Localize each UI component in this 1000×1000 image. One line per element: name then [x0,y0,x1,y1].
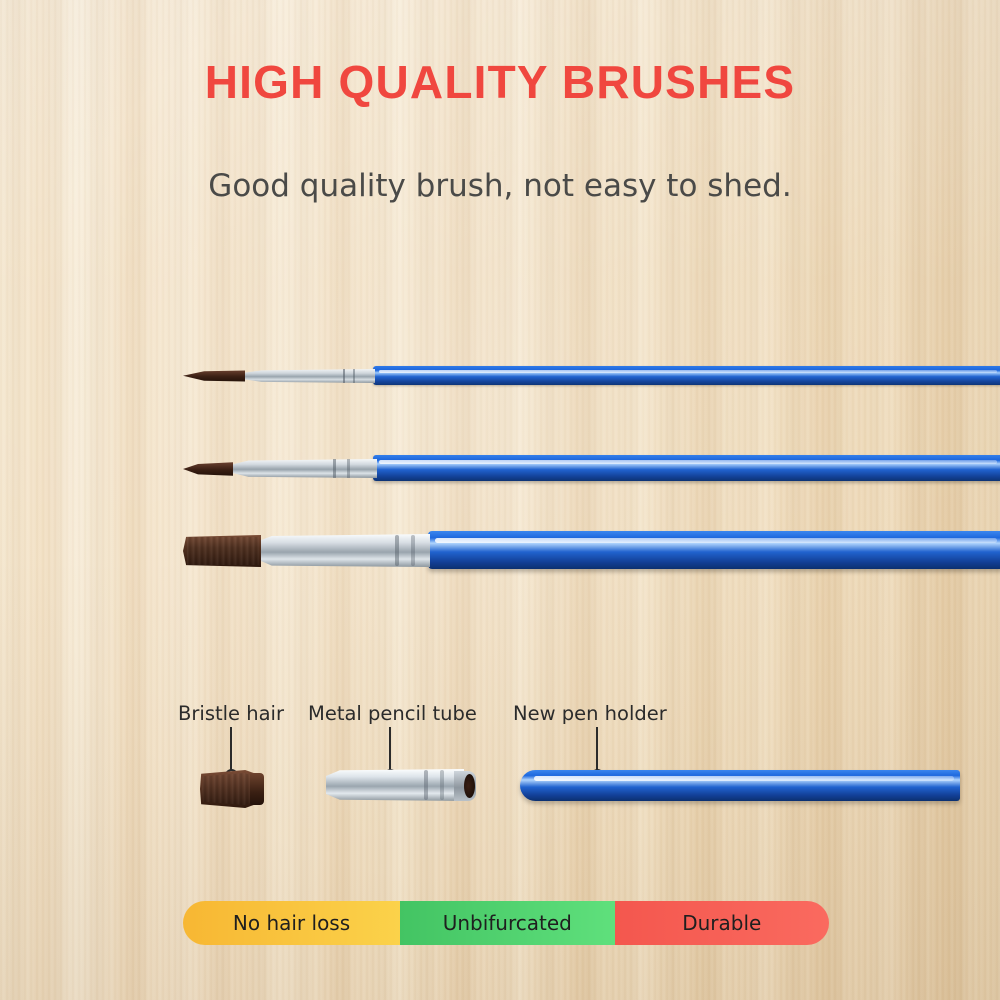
ferrule-crimp-line-2 [411,535,415,566]
ferrule-crimp-line-2 [353,369,355,383]
callout-label-bristle-hair: Bristle hair [178,702,284,725]
bristle-strand-shading [187,537,259,565]
callout-label-metal-pencil-tube: Metal pencil tube [308,702,477,725]
bristle-hair-sample [200,767,270,811]
round-detail-brush [183,450,1000,496]
brush-handle [428,531,1000,569]
feature-label: No hair loss [233,911,350,935]
feature-bar: No hair loss Unbifurcated Durable [183,901,829,945]
feature-no-hair-loss: No hair loss [183,901,400,945]
brush-ferrule [258,534,430,567]
brush-handle [373,455,1000,481]
ferrule-crimp-line [343,369,345,383]
brush-handle [373,366,1000,385]
pen-holder-body [520,770,960,801]
page-title: HIGH QUALITY BRUSHES [0,55,1000,109]
feature-label: Unbifurcated [443,911,572,935]
brush-handle-highlight [435,538,997,543]
ferrule-bore-hole [464,774,475,798]
brush-ferrule [243,369,375,383]
ferrule-crimp-line-2 [347,459,350,478]
callout-label-new-pen-holder: New pen holder [513,702,667,725]
brush-ferrule [231,459,377,478]
feature-durable: Durable [615,901,829,945]
feature-label: Durable [682,911,761,935]
pen-holder-sample [520,766,960,810]
brush-bristle [183,462,233,476]
ferrule-crimp-line [395,535,399,566]
ferrule-crimp-line-2 [440,770,444,800]
callout-line-new-pen-holder [596,727,598,771]
pen-holder-highlight [534,776,954,781]
product-infographic: HIGH QUALITY BRUSHES Good quality brush,… [0,0,1000,1000]
flat-shader-brush [183,528,1000,590]
callout-line-bristle-hair [230,727,232,771]
brush-handle-highlight [379,370,997,373]
bristle-hair-strands [202,773,256,805]
ferrule-crimp-line [424,770,428,800]
bristle-hair-end-cap [250,773,264,805]
background-vignette [0,0,1000,1000]
feature-unbifurcated: Unbifurcated [400,901,614,945]
metal-ferrule-sample [326,765,478,809]
ferrule-crimp-line [333,459,336,478]
brush-handle-highlight [379,460,997,464]
brush-bristle [183,370,245,382]
fine-liner-brush [183,358,1000,398]
page-subtitle: Good quality brush, not easy to shed. [0,168,1000,204]
